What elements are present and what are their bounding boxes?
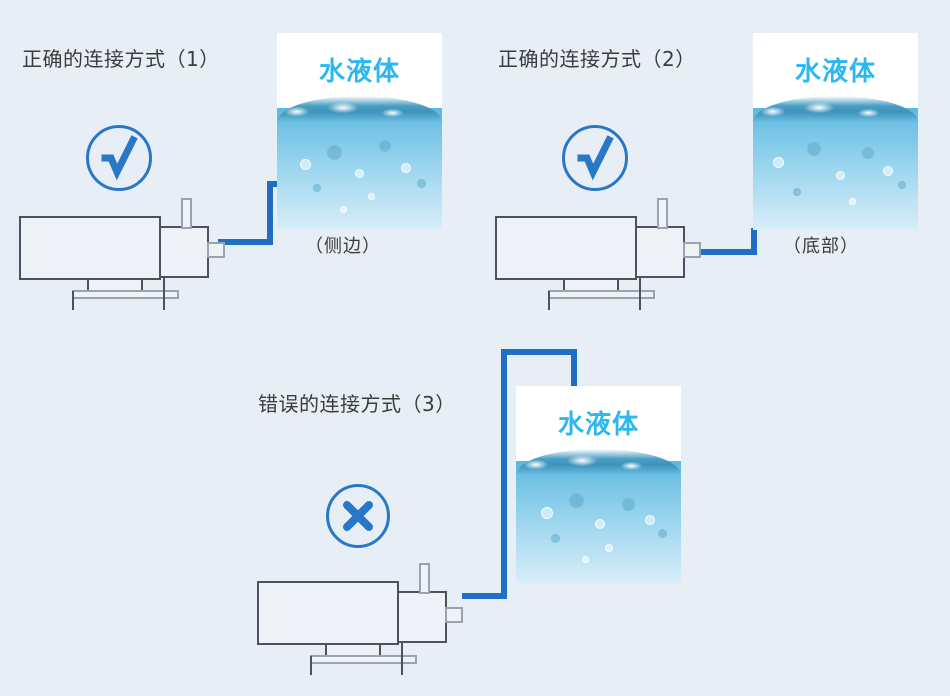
pump-unit-1 [18,195,233,310]
water-surface [516,449,681,475]
panel-2-title: 正确的连接方式（2） [498,43,696,72]
panel-1-title: 正确的连接方式（1） [22,43,220,72]
water-body [277,108,442,230]
water-body [753,108,918,230]
diagram-canvas: 正确的连接方式（1） 水液体 （侧边） [0,0,950,696]
panel-3-title: 错误的连接方式（3） [258,388,456,417]
tank-1-caption: （侧边） [305,232,381,258]
tank-2-label: 水液体 [753,51,918,88]
water-tank-2: 水液体 [753,33,918,230]
pump-unit-2 [494,195,709,310]
cross-icon [326,484,390,548]
check-icon [86,125,152,191]
water-tank-3: 水液体 [516,386,681,583]
water-body [516,461,681,583]
water-surface [277,96,442,122]
tank-2-caption: （底部） [783,232,859,258]
water-surface [753,96,918,122]
tank-3-label: 水液体 [516,404,681,441]
check-icon [562,125,628,191]
water-tank-1: 水液体 [277,33,442,230]
tank-1-label: 水液体 [277,51,442,88]
pump-unit-3 [256,560,471,675]
